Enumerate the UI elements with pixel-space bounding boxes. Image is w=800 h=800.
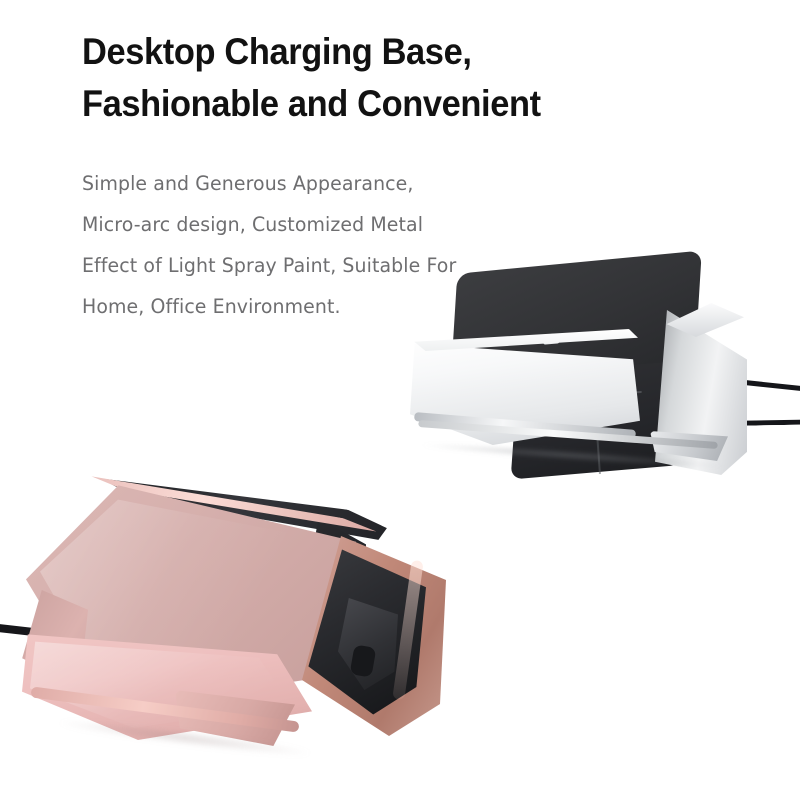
product-banner: Desktop Charging Base, Fashionable and C…	[0, 0, 800, 800]
product-image-rose-gold-dock	[0, 440, 470, 780]
page-title: Desktop Charging Base, Fashionable and C…	[82, 26, 677, 130]
